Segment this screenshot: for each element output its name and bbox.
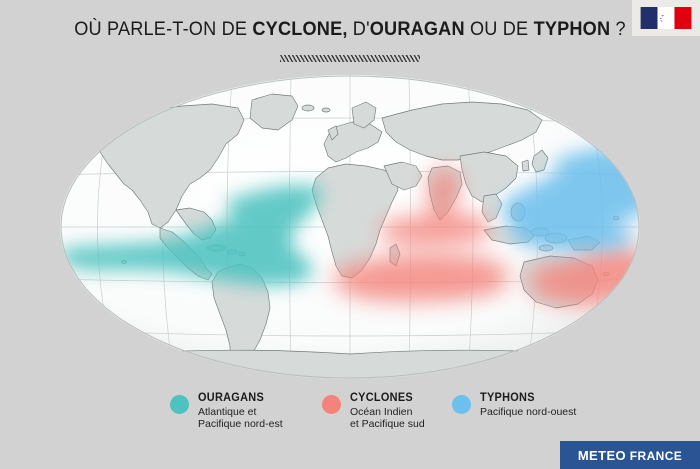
legend-item-cyclones: CYCLONES Océan Indien et Pacifique sud [322, 392, 425, 430]
land-antarctica [60, 350, 640, 380]
title-keyword-typhon: TYPHON [534, 18, 611, 40]
legend-label-cyclones: CYCLONES [350, 392, 421, 404]
legend-text-typhons: TYPHONS Pacifique nord-ouest [480, 392, 576, 418]
legend-text-cyclones: CYCLONES Océan Indien et Pacifique sud [350, 392, 425, 430]
legend-text-ouragans: OURAGANS Atlantique et Pacifique nord-es… [198, 392, 283, 430]
page-title: OÙ PARLE-T-ON DE CYCLONE, D'OURAGAN OU D… [25, 18, 676, 41]
legend-swatch-typhons [452, 395, 471, 414]
legend-item-ouragans: OURAGANS Atlantique et Pacifique nord-es… [170, 392, 283, 430]
land-korea [522, 160, 529, 171]
legend-label-typhons: TYPHONS [480, 392, 571, 404]
legend-label-ouragans: OURAGANS [198, 392, 278, 404]
meteo-france-brand: METEO FRANCE [578, 448, 682, 463]
meteo-france-banner: METEO FRANCE [560, 441, 700, 469]
title-segment-1: OÙ PARLE-T-ON DE [74, 18, 252, 40]
title-segment-3: OU DE [465, 18, 534, 40]
title-hatch-divider [280, 55, 420, 62]
title-segment-4: ? [610, 18, 626, 40]
map-legend: OURAGANS Atlantique et Pacifique nord-es… [0, 392, 700, 438]
legend-swatch-cyclones [322, 395, 341, 414]
brand-meteo: METEO [578, 448, 626, 463]
world-map [40, 72, 660, 382]
title-keyword-cyclone: CYCLONE, [252, 18, 347, 40]
land-new-zealand [616, 290, 630, 312]
legend-desc-ouragans: Atlantique et Pacifique nord-est [198, 406, 283, 430]
map-globe [40, 72, 660, 382]
legend-desc-typhons: Pacifique nord-ouest [480, 406, 576, 418]
brand-france: FRANCE [626, 449, 682, 463]
legend-swatch-ouragans [170, 395, 189, 414]
legend-desc-cyclones: Océan Indien et Pacifique sud [350, 406, 425, 430]
world-map-svg [40, 72, 660, 382]
title-keyword-ouragan: OURAGAN [370, 18, 465, 40]
title-segment-2: D' [348, 18, 370, 40]
legend-item-typhons: TYPHONS Pacifique nord-ouest [452, 392, 576, 418]
